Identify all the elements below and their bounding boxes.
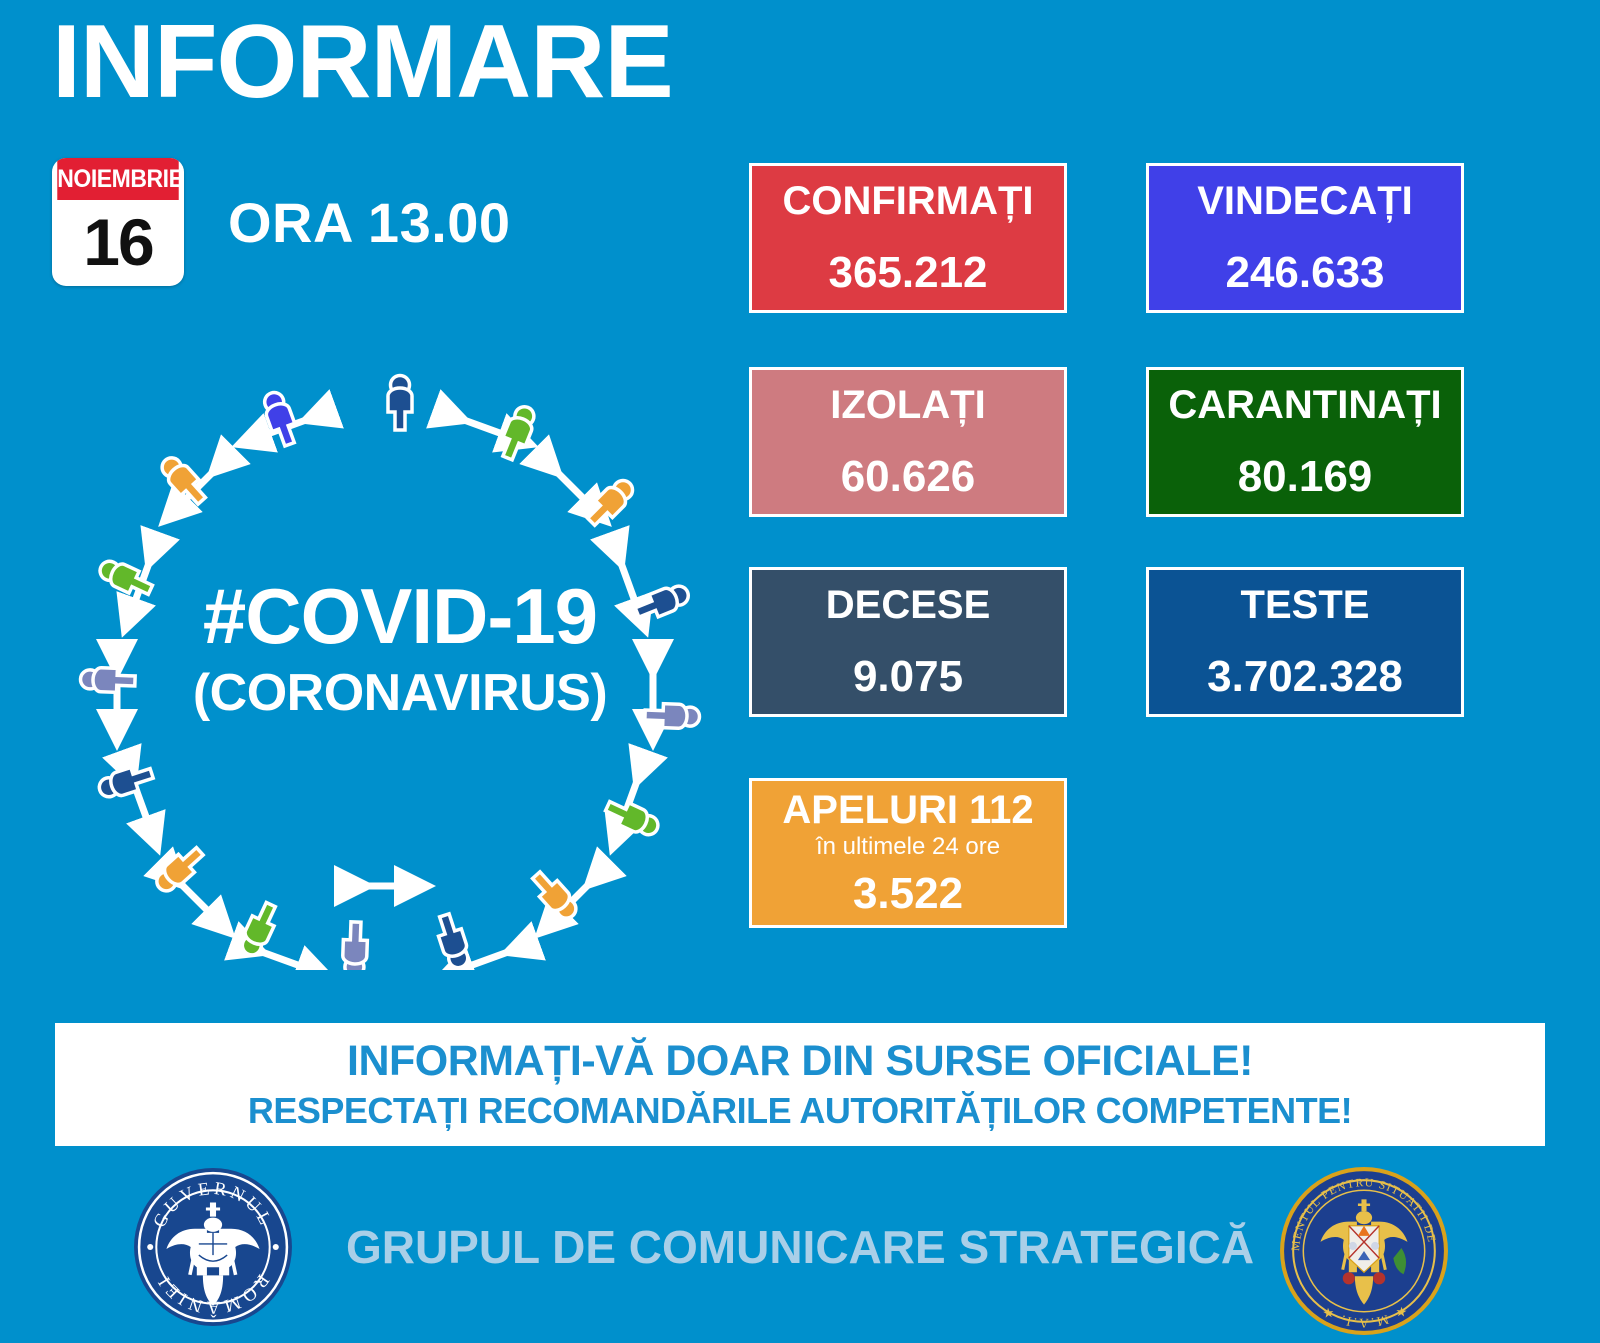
stat-value: 3.522	[853, 870, 963, 918]
stat-note: în ultimele 24 ore	[816, 834, 1000, 860]
stat-box-teste: TESTE 3.702.328	[1146, 567, 1464, 717]
guvernul-romaniei-logo: GUVERNUL ROMÂNIEI	[132, 1162, 294, 1332]
page-title: INFORMARE	[52, 6, 673, 118]
dsu-logo: DEPARTAMENTUL PENTRU SITUATII DE URGENTA…	[1278, 1162, 1450, 1340]
calendar-month-label: NOIEMBRIE	[57, 158, 178, 200]
stat-value: 60.626	[841, 453, 976, 501]
stat-value: 9.075	[853, 653, 963, 701]
stat-box-carantinati: CARANTINAȚI 80.169	[1146, 367, 1464, 517]
notice-banner: INFORMAȚI-VĂ DOAR DIN SURSE OFICIALE! RE…	[55, 1023, 1545, 1146]
stat-value: 80.169	[1238, 453, 1373, 501]
calendar-day-label: 16	[52, 200, 184, 286]
stat-value: 365.212	[828, 249, 987, 297]
notice-line-1: INFORMAȚI-VĂ DOAR DIN SURSE OFICIALE!	[347, 1037, 1253, 1086]
stat-box-confirmati: CONFIRMAȚI 365.212	[749, 163, 1067, 313]
hour-label: ORA 13.00	[228, 190, 511, 255]
stat-label: CONFIRMAȚI	[782, 179, 1033, 223]
footer-title: GRUPUL DE COMUNICARE STRATEGICĂ	[346, 1220, 1254, 1274]
stat-box-decese: DECESE 9.075	[749, 567, 1067, 717]
stat-label: VINDECAȚI	[1197, 179, 1413, 223]
stat-label: TESTE	[1241, 583, 1370, 627]
stat-box-izolati: IZOLAȚI 60.626	[749, 367, 1067, 517]
stat-box-vindecati: VINDECAȚI 246.633	[1146, 163, 1464, 313]
calendar-icon: NOIEMBRIE 16	[52, 158, 184, 286]
social-distancing-circle-icon: #COVID-19 (CORONAVIRUS)	[55, 330, 745, 970]
date-row: NOIEMBRIE 16 ORA 13.00	[52, 158, 511, 286]
stat-value: 246.633	[1225, 249, 1384, 297]
stat-label: CARANTINAȚI	[1168, 383, 1441, 427]
stat-box-apeluri-112: APELURI 112 în ultimele 24 ore 3.522	[749, 778, 1067, 928]
footer: GUVERNUL ROMÂNIEI GRUPUL DE	[0, 1150, 1600, 1343]
stat-label: DECESE	[826, 583, 991, 627]
stat-value: 3.702.328	[1207, 653, 1403, 701]
stat-label: IZOLAȚI	[830, 383, 986, 427]
stat-label: APELURI 112	[782, 788, 1033, 832]
notice-line-2: RESPECTAȚI RECOMANDĂRILE AUTORITĂȚILOR C…	[248, 1090, 1352, 1132]
